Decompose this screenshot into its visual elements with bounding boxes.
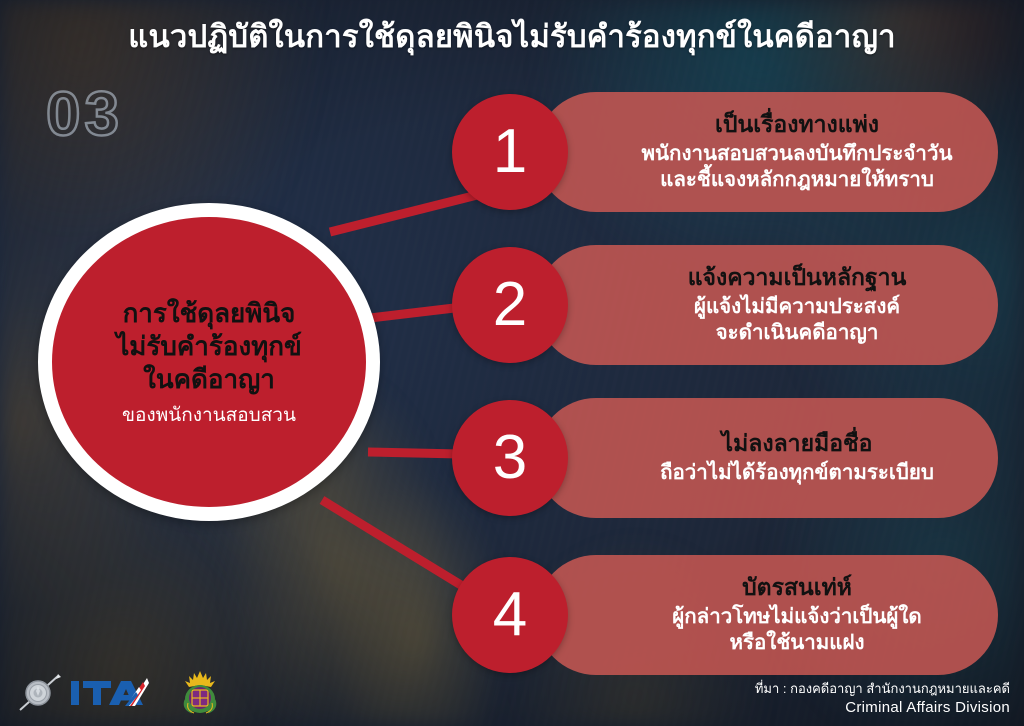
item-pill-4: บัตรสนเท่ห์ ผู้กล่าวโทษไม่แจ้งว่าเป็นผู้… xyxy=(536,555,998,675)
item-line-2b: จะดำเนินคดีอาญา xyxy=(716,320,879,346)
item-row-3: ไม่ลงลายมือชื่อ ถือว่าไม่ได้ร้องทุกข์ตาม… xyxy=(452,392,1012,524)
source-credit-english: Criminal Affairs Division xyxy=(755,698,1010,718)
item-number-badge-4: 4 xyxy=(452,557,568,673)
hub-subtitle: ของพนักงานสอบสวน xyxy=(122,404,296,428)
item-heading-1: เป็นเรื่องทางแพ่ง xyxy=(715,111,879,139)
item-heading-2: แจ้งความเป็นหลักฐาน xyxy=(688,264,907,292)
hub-title-line-1: การใช้ดุลยพินิจ xyxy=(116,297,302,330)
item-heading-4: บัตรสนเท่ห์ xyxy=(742,574,852,602)
item-number-badge-1: 1 xyxy=(452,94,568,210)
royal-thai-police-emblem-icon xyxy=(180,670,220,716)
item-row-2: แจ้งความเป็นหลักฐาน ผู้แจ้งไม่มีความประส… xyxy=(452,239,1012,371)
item-line-1b: และชี้แจงหลักกฎหมายให้ทราบ xyxy=(660,167,934,193)
item-pill-2: แจ้งความเป็นหลักฐาน ผู้แจ้งไม่มีความประส… xyxy=(536,245,998,365)
item-number-badge-3: 3 xyxy=(452,400,568,516)
item-heading-3: ไม่ลงลายมือชื่อ xyxy=(722,430,873,458)
item-pill-3: ไม่ลงลายมือชื่อ ถือว่าไม่ได้ร้องทุกข์ตาม… xyxy=(536,398,998,518)
hub-title-line-2: ไม่รับคำร้องทุกข์ xyxy=(116,330,302,363)
item-row-4: บัตรสนเท่ห์ ผู้กล่าวโทษไม่แจ้งว่าเป็นผู้… xyxy=(452,549,1012,681)
hub-title-line-3: ในคดีอาญา xyxy=(116,363,302,396)
item-line-3a: ถือว่าไม่ได้ร้องทุกข์ตามระเบียบ xyxy=(660,460,934,486)
police-shield-emblem-icon xyxy=(16,670,62,716)
item-row-1: เป็นเรื่องทางแพ่ง พนักงานสอบสวนลงบันทึกป… xyxy=(452,86,1012,218)
item-line-1a: พนักงานสอบสวนลงบันทึกประจำวัน xyxy=(642,141,953,167)
item-pill-1: เป็นเรื่องทางแพ่ง พนักงานสอบสวนลงบันทึกป… xyxy=(536,92,998,212)
item-line-4b: หรือใช้นามแฝง xyxy=(729,630,864,656)
item-line-2a: ผู้แจ้งไม่มีความประสงค์ xyxy=(694,294,900,320)
hub-title: การใช้ดุลยพินิจ ไม่รับคำร้องทุกข์ ในคดีอ… xyxy=(94,297,324,397)
infographic-canvas: แนวปฏิบัติในการใช้ดุลยพินิจไม่รับคำร้องท… xyxy=(0,0,1024,726)
ita-logo-icon xyxy=(69,676,173,710)
item-number-badge-2: 2 xyxy=(452,247,568,363)
source-credit: ที่มา : กองคดีอาญา สำนักงานกฎหมายและคดี … xyxy=(755,680,1010,718)
source-credit-thai: ที่มา : กองคดีอาญา สำนักงานกฎหมายและคดี xyxy=(755,680,1010,698)
logo-strip xyxy=(16,668,220,718)
hub-circle: การใช้ดุลยพินิจ ไม่รับคำร้องทุกข์ ในคดีอ… xyxy=(38,203,380,521)
item-line-4a: ผู้กล่าวโทษไม่แจ้งว่าเป็นผู้ใด xyxy=(672,604,922,630)
